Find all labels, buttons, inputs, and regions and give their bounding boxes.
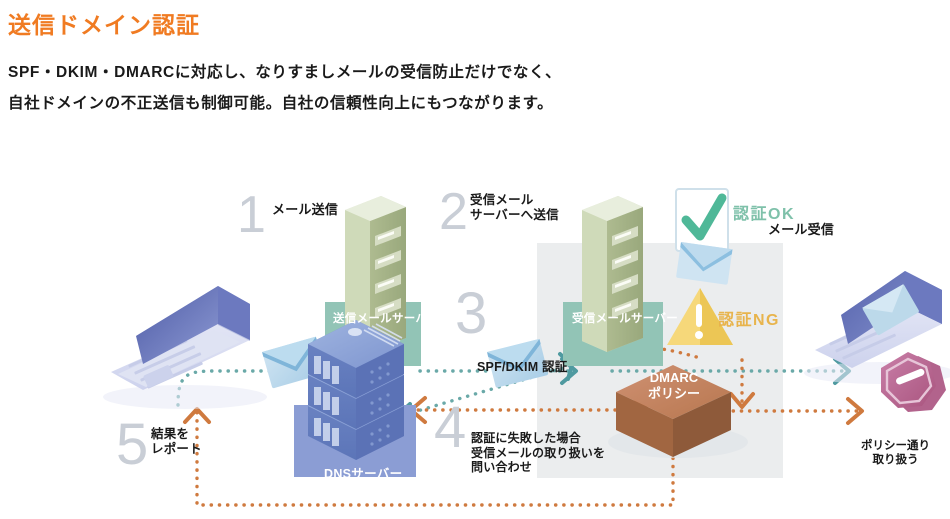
policy-result-line-1: ポリシー通り (843, 439, 948, 453)
domain-auth-flow-diagram: 1 2 3 4 5 メール送信 受信メール サーバーへ送信 SPF/DKIM 認… (0, 160, 950, 519)
policy-result-icon (881, 352, 946, 412)
step-4-label-line-3: 問い合わせ (471, 460, 605, 475)
page-description: SPF・DKIM・DMARCに対応し、なりすましメールの受信防止だけでなく、 自… (8, 57, 561, 119)
envelope-3-icon (676, 242, 733, 285)
dmarc-caption-line-2: ポリシー (624, 386, 724, 402)
mail-receive-label: メール受信 (768, 222, 834, 238)
step-2-label: 受信メール サーバーへ送信 (470, 193, 559, 224)
step-3-label: SPF/DKIM 認証 (477, 360, 567, 375)
dns-server-caption: DNSサーバー (324, 463, 402, 482)
receiving-server-caption: 受信メールサーバー (572, 310, 678, 326)
step-number-3: 3 (455, 285, 487, 343)
step-2-label-line-1: 受信メール (470, 193, 559, 208)
step-2-label-line-2: サーバーへ送信 (470, 208, 559, 223)
sending-server-caption: 送信メールサーバー (333, 310, 439, 326)
step-4-label: 認証に失敗した場合 受信メールの取り扱いを 問い合わせ (471, 431, 605, 475)
policy-result-caption: ポリシー通り 取り扱う (843, 439, 948, 468)
auth-ng-badge: 認証NG (718, 306, 780, 330)
step-number-1: 1 (237, 189, 266, 241)
step-number-5: 5 (116, 416, 148, 474)
description-line-2: 自社ドメインの不正送信も制御可能。自社の信頼性向上にもつながります。 (8, 88, 561, 119)
step-number-2: 2 (439, 186, 468, 238)
dmarc-policy-caption: DMARC ポリシー (624, 370, 724, 401)
auth-ok-check-icon (676, 189, 728, 251)
auth-ok-badge: 認証OK (733, 200, 795, 224)
page-root: 送信ドメイン認証 SPF・DKIM・DMARCに対応し、なりすましメールの受信防… (0, 0, 950, 519)
step-5-label: 結果を レポート (151, 427, 202, 458)
page-title: 送信ドメイン認証 (8, 6, 200, 40)
step-5-label-line-2: レポート (151, 442, 202, 457)
step-5-label-line-1: 結果を (151, 427, 202, 442)
description-line-1: SPF・DKIM・DMARCに対応し、なりすましメールの受信防止だけでなく、 (8, 57, 561, 88)
sender-laptop-icon (103, 286, 267, 409)
dmarc-caption-line-1: DMARC (624, 370, 724, 386)
step-4-label-line-1: 認証に失敗した場合 (471, 431, 605, 446)
step-4-label-line-2: 受信メールの取り扱いを (471, 446, 605, 461)
dns-server-icon (294, 320, 416, 477)
policy-result-line-2: 取り扱う (843, 453, 948, 467)
step-number-4: 4 (434, 399, 466, 457)
step-1-label: メール送信 (272, 202, 338, 218)
